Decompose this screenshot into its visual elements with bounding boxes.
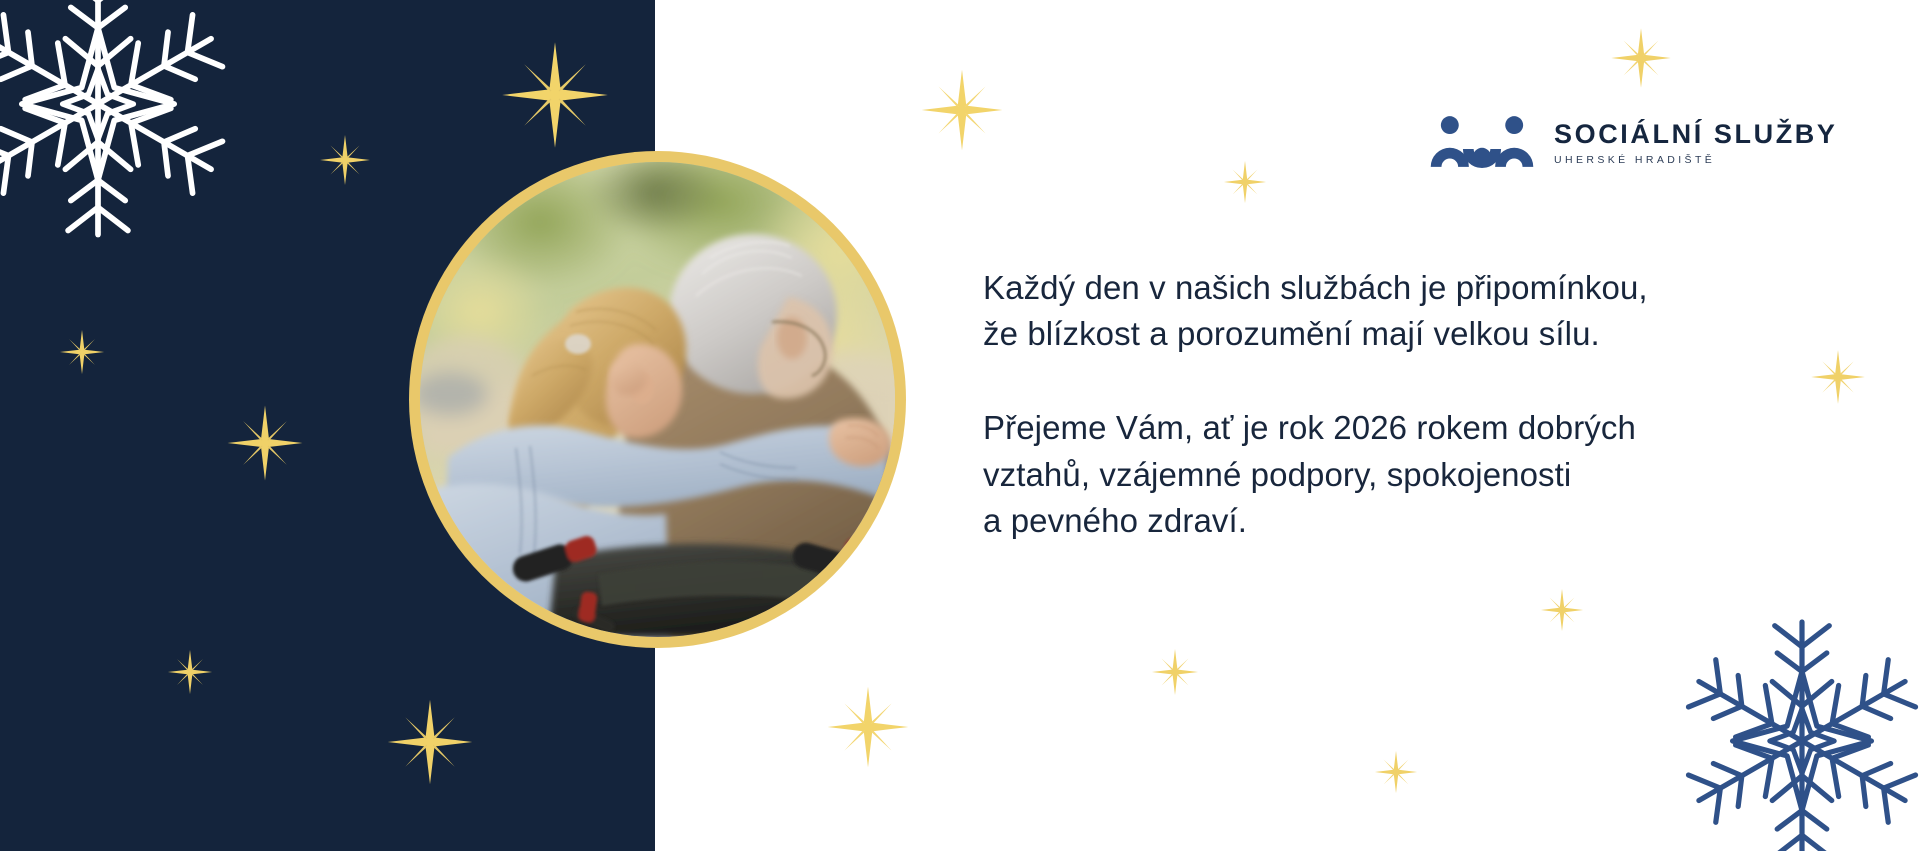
- star-4-icon: [226, 404, 304, 482]
- star-5-icon: [167, 649, 213, 695]
- snowflake-bottom-right-icon: [1678, 617, 1920, 851]
- star-11-icon: [1540, 588, 1584, 632]
- star-7-icon: [920, 68, 1004, 152]
- message-paragraph-2: Přejeme Vám, ať je rok 2026 rokem dobrýc…: [983, 405, 1823, 544]
- star-14-icon: [1374, 750, 1418, 794]
- star-3-icon: [59, 329, 105, 375]
- star-12-icon: [1151, 648, 1199, 696]
- greeting-message: Každý den v našich službách je připomínk…: [983, 265, 1823, 544]
- snowflake-top-left-icon: [0, 0, 234, 240]
- message-line: Přejeme Vám, ať je rok 2026 rokem dobrýc…: [983, 405, 1823, 451]
- message-paragraph-1: Každý den v našich službách je připomínk…: [983, 265, 1823, 357]
- star-6-icon: [386, 698, 474, 786]
- logo-wordmark: SOCIÁLNÍ SLUŽBY UHERSKÉ HRADIŠTĚ: [1554, 120, 1838, 166]
- paragraph-spacer: [983, 357, 1823, 405]
- logo-subtitle: UHERSKÉ HRADIŠTĚ: [1554, 154, 1838, 166]
- message-line: že blízkost a porozumění mají velkou síl…: [983, 311, 1823, 357]
- star-9-icon: [1610, 27, 1672, 89]
- star-2-icon: [319, 134, 371, 186]
- message-line: a pevného zdraví.: [983, 498, 1823, 544]
- star-8-icon: [1223, 160, 1267, 204]
- photo-embrace-image: [420, 162, 895, 637]
- message-line: Každý den v našich službách je připomínk…: [983, 265, 1823, 311]
- photo-gold-ring: [409, 151, 906, 648]
- logo-title: SOCIÁLNÍ SLUŽBY: [1554, 120, 1838, 149]
- star-1-icon: [500, 40, 610, 150]
- star-13-icon: [826, 685, 910, 769]
- message-line: vztahů, vzájemné podpory, spokojenosti: [983, 452, 1823, 498]
- greeting-card: SOCIÁLNÍ SLUŽBY UHERSKÉ HRADIŠTĚ Každý d…: [0, 0, 1920, 851]
- three-people-icon: [1428, 112, 1536, 174]
- photo-circle-mask: [420, 162, 895, 637]
- organization-logo: SOCIÁLNÍ SLUŽBY UHERSKÉ HRADIŠTĚ: [1428, 112, 1838, 174]
